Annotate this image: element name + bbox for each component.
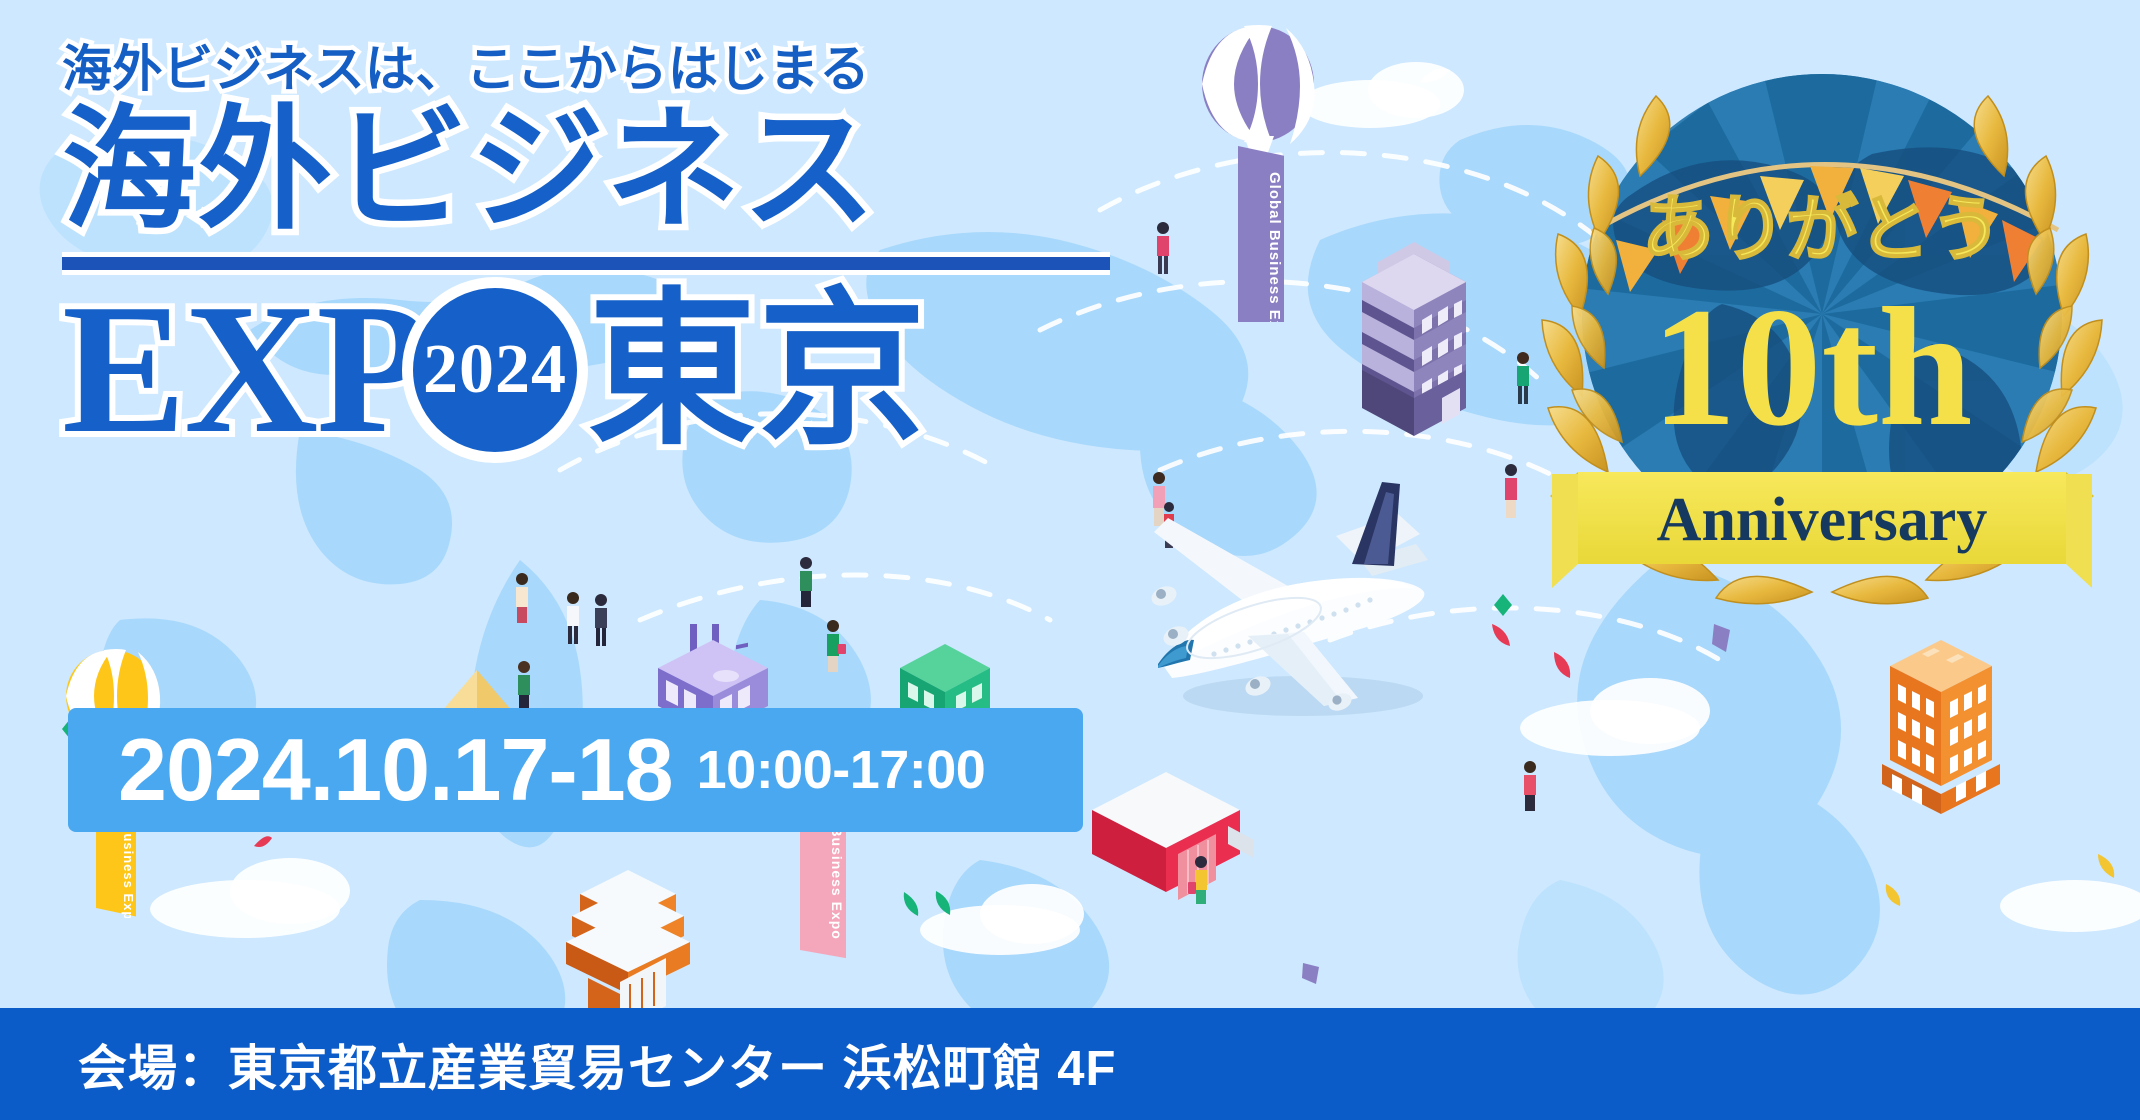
orange-tower-building [1878,608,2004,824]
emblem-number-text: 10th [1651,273,1972,461]
cloud-9 [2000,880,2140,932]
person-figure [512,660,536,714]
confetti-piece [2094,850,2120,880]
person-figure [794,556,818,610]
confetti-piece [1488,620,1514,650]
city-label: 東京 [588,286,928,454]
confetti-piece [1882,880,1908,910]
event-time: 10:00-17:00 [697,739,986,801]
confetti-piece [1548,648,1576,680]
confetti-piece [250,832,276,858]
purple-tower-building [1348,208,1478,448]
confetti-piece [1300,960,1324,986]
tagline: 海外ビジネスは、ここからはじまる [62,42,1182,97]
confetti-piece [930,888,956,918]
person-figure [820,618,846,676]
event-banner: 海外ビジネスは、ここからはじまる 海外ビジネス EXP 2024 東京 2024… [0,0,2140,1120]
emblem-thanks-text: ありがとう [1642,190,2002,270]
date-band: 2024.10.17-18 10:00-17:00 [68,708,1083,832]
person-figure [588,592,614,650]
emblem-ribbon: Anniversary [1550,472,2094,588]
year-badge: 2024 [402,277,588,463]
venue-bar: 会場：東京都立産業貿易センター 浜松町館 4F [0,1008,2140,1120]
cloud-4 [1590,678,1710,744]
red-booth-building [1078,758,1258,918]
cloud-6 [230,858,350,924]
person-figure [510,572,534,626]
person-figure [1518,760,1542,814]
confetti-piece [1418,66,1452,86]
expo-title-row: EXP 2024 東京 [62,277,1182,463]
cloud-8 [980,884,1084,944]
title-line-1: 海外ビジネス [62,103,1182,240]
anniversary-emblem: ありがとう 10th Anniversary ありがとう 10th Annive… [1512,44,2132,624]
orange-stacked-building [550,866,710,1026]
confetti-piece [1710,622,1736,654]
confetti-piece [900,890,926,918]
year-badge-label: 2024 [402,277,588,463]
svg-text:Anniversary: Anniversary [1657,486,1988,554]
purple-balloon-banner-text: Global Business Expo [1266,172,1283,322]
expo-wordmark: EXP [62,284,428,455]
event-date: 2024.10.17-18 [118,719,673,821]
airplane [1128,468,1458,738]
venue-text: 会場：東京都立産業貿易センター 浜松町館 4F [78,1029,1116,1100]
headline-block: 海外ビジネスは、ここからはじまる 海外ビジネス EXP 2024 東京 [62,42,1182,463]
person-figure [1188,854,1214,912]
person-figure [560,590,586,648]
